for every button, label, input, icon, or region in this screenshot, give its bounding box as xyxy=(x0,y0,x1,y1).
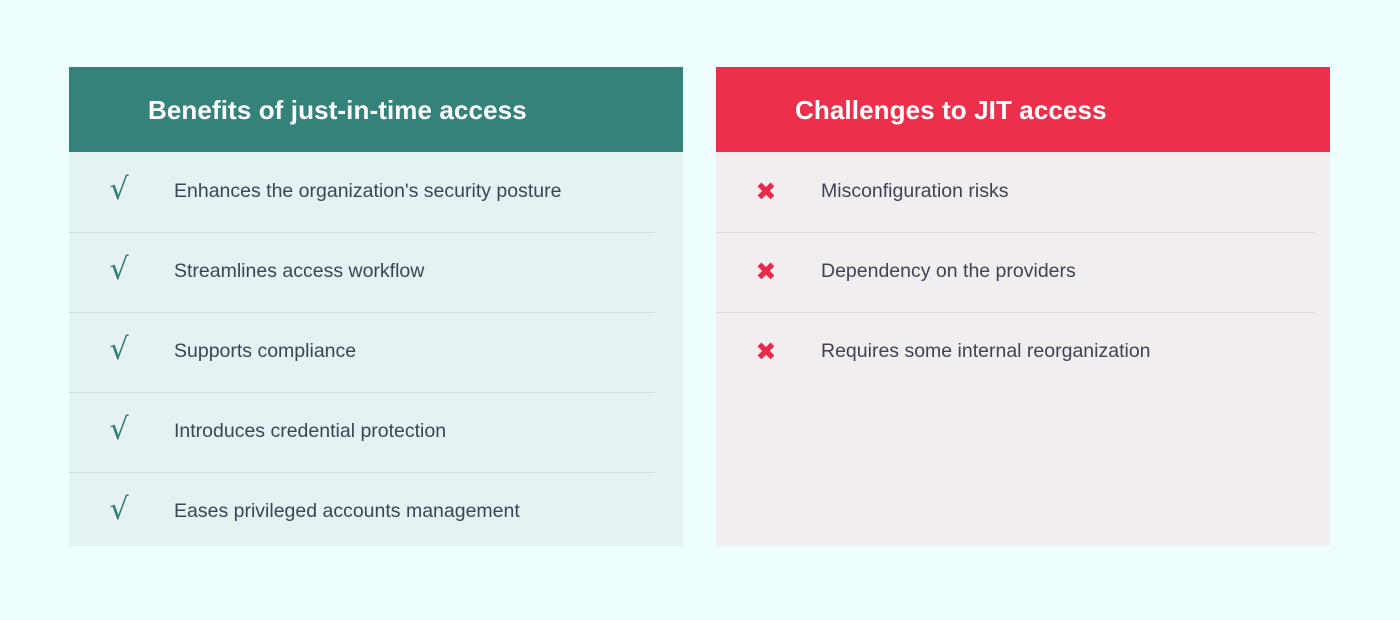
challenges-card-title: Challenges to JIT access xyxy=(795,97,1107,123)
list-item-label: Enhances the organization's security pos… xyxy=(141,182,561,202)
list-item: ✖ Dependency on the providers xyxy=(716,232,1330,312)
check-icon: √ xyxy=(97,335,141,365)
cross-icon: ✖ xyxy=(744,259,788,284)
list-item: √ Streamlines access workflow xyxy=(69,232,683,312)
list-item: ✖ Misconfiguration risks xyxy=(716,152,1330,232)
check-icon: √ xyxy=(97,255,141,285)
check-icon: √ xyxy=(97,495,141,525)
list-item-label: Misconfiguration risks xyxy=(788,182,1008,202)
list-item-label: Eases privileged accounts management xyxy=(141,502,520,522)
benefits-card: Benefits of just-in-time access √ Enhanc… xyxy=(69,67,683,546)
list-item-label: Dependency on the providers xyxy=(788,262,1076,282)
list-item-label: Streamlines access workflow xyxy=(141,262,424,282)
list-item: ✖ Requires some internal reorganization xyxy=(716,312,1330,392)
list-item-label: Requires some internal reorganization xyxy=(788,342,1151,362)
list-item-label: Supports compliance xyxy=(141,342,356,362)
check-icon: √ xyxy=(97,175,141,205)
list-item-label: Introduces credential protection xyxy=(141,422,446,442)
list-item: √ Introduces credential protection xyxy=(69,392,683,472)
challenges-card: Challenges to JIT access ✖ Misconfigurat… xyxy=(716,67,1330,546)
cross-icon: ✖ xyxy=(744,179,788,204)
challenges-card-header: Challenges to JIT access xyxy=(716,67,1330,152)
comparison-board: Benefits of just-in-time access √ Enhanc… xyxy=(0,0,1400,620)
check-icon: √ xyxy=(97,415,141,445)
benefits-card-header: Benefits of just-in-time access xyxy=(69,67,683,152)
challenges-list: ✖ Misconfiguration risks ✖ Dependency on… xyxy=(716,152,1330,392)
cross-icon: ✖ xyxy=(744,339,788,364)
list-item: √ Eases privileged accounts management xyxy=(69,472,683,546)
benefits-card-title: Benefits of just-in-time access xyxy=(148,97,527,123)
list-item: √ Supports compliance xyxy=(69,312,683,392)
list-item: √ Enhances the organization's security p… xyxy=(69,152,683,232)
benefits-list: √ Enhances the organization's security p… xyxy=(69,152,683,546)
